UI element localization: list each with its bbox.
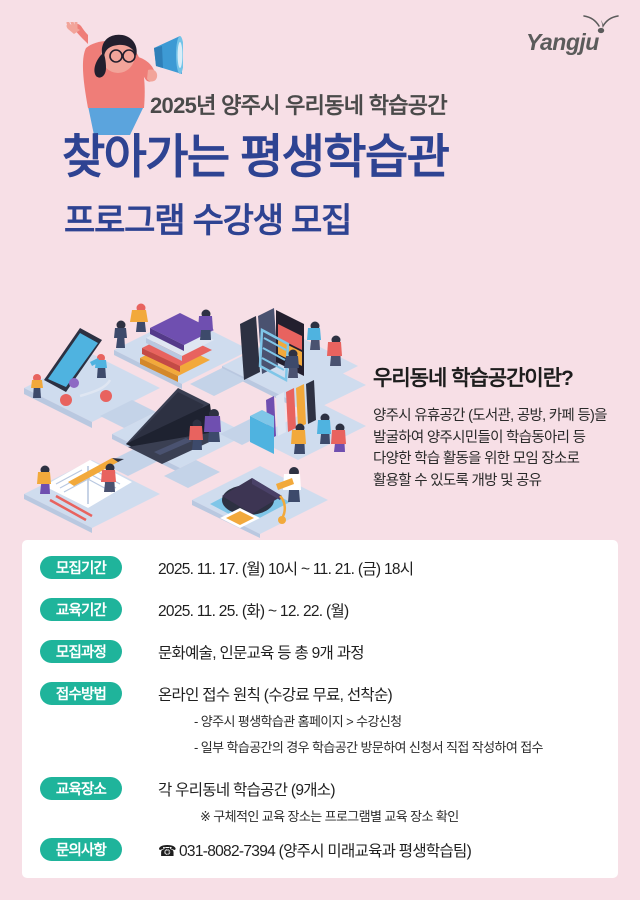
- row-label-inquiry: 문의사항: [40, 838, 122, 861]
- about-body: 양주시 유휴공간 (도서관, 공방, 카페 등)을 발굴하여 양주시민들이 학습…: [373, 406, 623, 492]
- row-value-application-method: 온라인 접수 원칙 (수강료 무료, 선착순): [158, 683, 392, 705]
- row-note: ※ 구체적인 교육 장소는 프로그램별 교육 장소 확인: [200, 806, 459, 825]
- row-value-courses: 문화예술, 인문교육 등 총 9개 과정: [158, 641, 364, 663]
- about-heading: 우리동네 학습공간이란?: [373, 362, 573, 392]
- about-body-line: 양주시 유휴공간 (도서관, 공방, 카페 등)을: [373, 406, 623, 428]
- inquiry-phone-text: 031-8082-7394 (양주시 미래교육과 평생학습팀): [179, 843, 471, 860]
- row-note: - 양주시 평생학습관 홈페이지 > 수강신청: [194, 711, 402, 730]
- telephone-icon: ☎: [158, 843, 176, 860]
- row-value-education-period: 2025. 11. 25. (화) ~ 12. 22. (월): [158, 599, 349, 621]
- row-label-education-period: 교육기간: [40, 598, 122, 621]
- row-value-location: 각 우리동네 학습공간 (9개소): [158, 778, 335, 800]
- row-value-inquiry: ☎031-8082-7394 (양주시 미래교육과 평생학습팀): [158, 839, 471, 861]
- row-note: - 일부 학습공간의 경우 학습공간 방문하여 신청서 직접 작성하여 접수: [194, 737, 543, 756]
- row-value-recruit-period: 2025. 11. 17. (월) 10시 ~ 11. 21. (금) 18시: [158, 557, 413, 579]
- about-body-line: 발굴하여 양주시민들이 학습동아리 등: [373, 428, 623, 450]
- page-title: 찾아가는 평생학습관: [62, 133, 448, 180]
- page-subtitle: 프로그램 수강생 모집: [64, 204, 351, 238]
- row-label-courses: 모집과정: [40, 640, 122, 663]
- details-card: 모집기간 2025. 11. 17. (월) 10시 ~ 11. 21. (금)…: [22, 540, 618, 878]
- yangju-logo: Yangju: [526, 14, 622, 58]
- row-label-recruit-period: 모집기간: [40, 556, 122, 579]
- row-label-application-method: 접수방법: [40, 682, 122, 705]
- about-body-line: 활용할 수 있도록 개방 및 공유: [373, 471, 623, 493]
- eyebrow-text: 2025년 양주시 우리동네 학습공간: [150, 88, 447, 120]
- row-label-location: 교육장소: [40, 777, 122, 800]
- poster-canvas: Yangju 2025년 양주시 우리동네 학습공간 찾아가는 평생학습관 프로…: [0, 0, 640, 900]
- logo-wordmark: Yangju: [526, 29, 599, 56]
- about-body-line: 다양한 학습 활동을 위한 모임 장소로: [373, 449, 623, 471]
- isometric-learning-spaces-illustration: [14, 288, 374, 538]
